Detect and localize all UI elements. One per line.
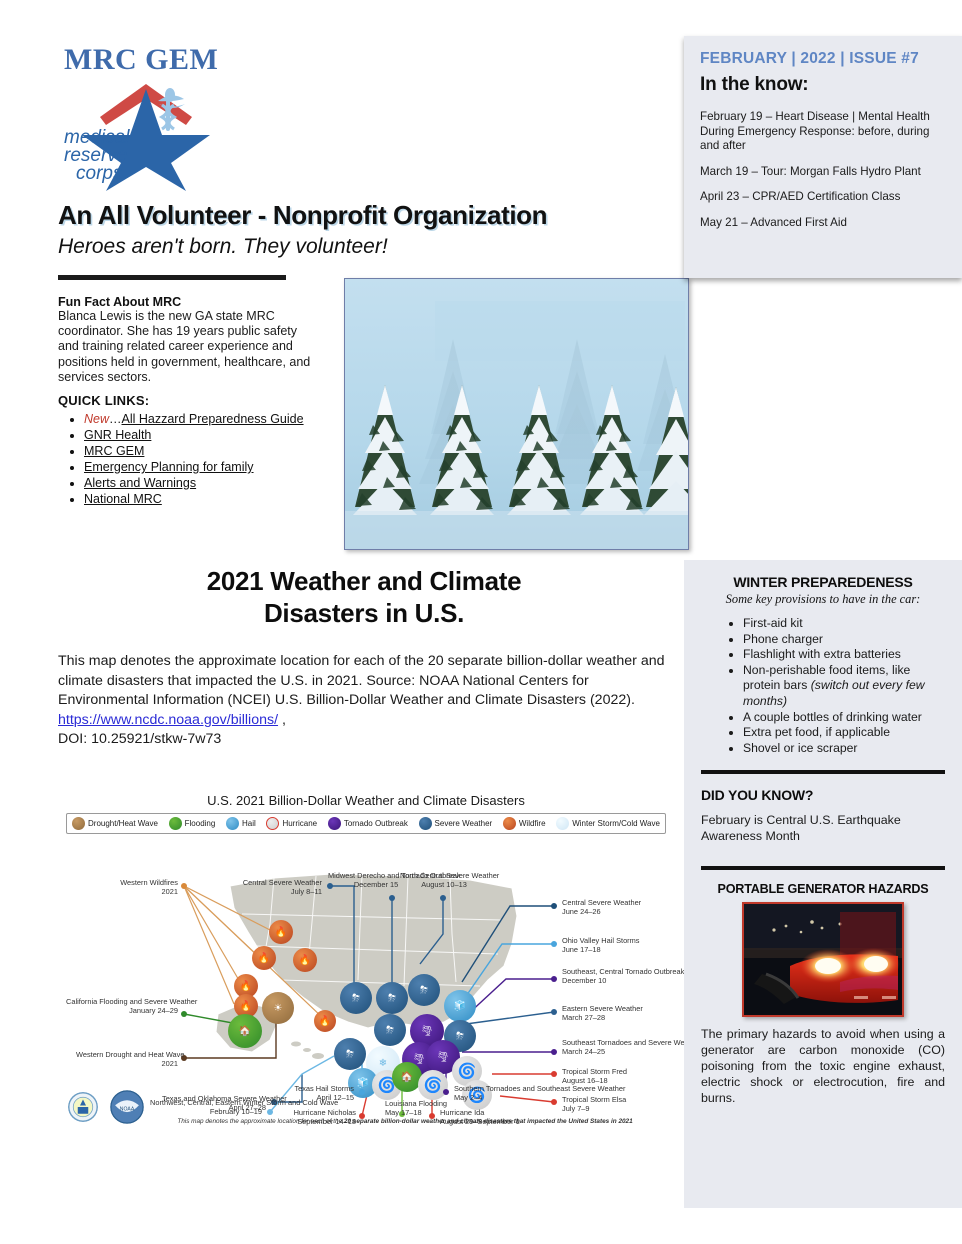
- map-label-name: Central Severe Weather: [222, 878, 322, 887]
- winter-prep-section: WINTER PREPAREDENESS Some key provisions…: [684, 560, 962, 756]
- noaa-logo-icon: NOAA: [110, 1090, 144, 1124]
- legend-item: Tornado Outbreak: [328, 817, 408, 830]
- map-footnote-bold: 20 separate billion-dollar weather and c…: [344, 1118, 633, 1125]
- sidebar-divider-2: [701, 866, 945, 870]
- legend-item: Winter Storm/Cold Wave: [556, 817, 660, 830]
- noaa-billions-link[interactable]: https://www.ncdc.noaa.gov/billions/: [58, 712, 278, 728]
- list-item: Extra pet food, if applicable: [743, 725, 945, 741]
- map-label-date: May 2–4: [454, 1093, 554, 1102]
- event-item: March 19 – Tour: Morgan Falls Hydro Plan…: [700, 165, 946, 180]
- event-dot: [181, 883, 187, 889]
- event-item: May 21 – Advanced First Aid: [700, 216, 946, 231]
- list-item: A couple bottles of drinking water: [743, 710, 945, 726]
- map-label-name: Southeast Tornadoes and Severe Weather: [562, 1038, 666, 1047]
- map-label-date: July 8–11: [222, 887, 322, 896]
- map-label-name: Southeast, Central Tornado Outbreak: [562, 967, 666, 976]
- map-label-date: February 10–19: [150, 1107, 262, 1116]
- sidebar-divider-1: [701, 770, 945, 774]
- map-footnote: This map denotes the approximate locatio…: [150, 1118, 660, 1125]
- sidebar-lower-panel: WINTER PREPAREDENESS Some key provisions…: [684, 560, 962, 1208]
- quick-link-label[interactable]: GNR Health: [84, 428, 151, 442]
- map-label: Southern Tornadoes and Southeast Severe …: [454, 1084, 554, 1102]
- quick-link-label[interactable]: Alerts and Warnings: [84, 476, 196, 490]
- wildfire-map-icon: 🔥: [293, 948, 317, 972]
- winter-prep-list: First-aid kit Phone charger Flashlight w…: [701, 616, 945, 756]
- article-title: 2021 Weather and Climate Disasters in U.…: [58, 565, 670, 629]
- legend-label: Flooding: [185, 819, 216, 828]
- masthead: MRC GEM medical reserve c: [58, 45, 658, 280]
- generator-heading: PORTABLE GENERATOR HAZARDS: [701, 882, 945, 896]
- legend-item: Flooding: [169, 817, 216, 830]
- map-label: Ohio Valley Hail Storms June 17–18: [562, 936, 666, 954]
- list-item[interactable]: National MRC: [84, 491, 316, 507]
- map-label-date: 2021: [76, 887, 178, 896]
- legend-label: Hurricane: [282, 819, 317, 828]
- map-label: Southeast Tornadoes and Severe Weather M…: [562, 1038, 666, 1056]
- map-label: Eastern Severe Weather March 27–28: [562, 1004, 666, 1022]
- article-title-line2: Disasters in U.S.: [58, 597, 670, 629]
- list-item: Flashlight with extra batteries: [743, 647, 945, 663]
- map-canvas: 🔥 🔥 🔥 🔥 🔥 🔥 ☀ 🏠 ⛈ ⛈ ⛈ 🧊 ⛈ 🌪 ⛈ ⛈ ❄ 🌪 🌪 🧊 …: [62, 834, 670, 1130]
- map-label: Central Severe Weather July 8–11: [222, 878, 322, 896]
- did-you-know-heading: DID YOU KNOW?: [701, 787, 945, 803]
- severe-weather-map-icon: ⛈: [374, 1014, 406, 1046]
- newsletter-page: MRC GEM medical reserve c: [0, 0, 962, 1244]
- event-dot: [389, 895, 395, 901]
- winter-prep-heading: WINTER PREPAREDENESS: [701, 574, 945, 590]
- map-label: Northwest, Central, Eastern Winter Storm…: [150, 1098, 262, 1116]
- map-label-name: Texas Hail Storms: [284, 1084, 354, 1093]
- billion-dollar-disasters-map-figure: U.S. 2021 Billion-Dollar Weather and Cli…: [62, 790, 670, 1155]
- item-text: Extra pet food, if applicable: [743, 725, 890, 739]
- quick-links-list: New…All Hazzard Preparedness Guide GNR H…: [58, 411, 316, 507]
- severe-weather-map-icon: ⛈: [408, 974, 440, 1006]
- noaa-department-seal-icon: [68, 1092, 98, 1122]
- issue-line: FEBRUARY | 2022 | ISSUE #7: [684, 36, 962, 68]
- map-label: California Flooding and Severe Weather J…: [66, 997, 178, 1015]
- article-paragraph-tail: ,: [278, 712, 286, 728]
- map-label: Tropical Storm Elsa July 7–9: [562, 1095, 666, 1113]
- article-body: This map denotes the approximate locatio…: [58, 652, 670, 750]
- did-you-know-section: DID YOU KNOW? February is Central U.S. E…: [684, 787, 962, 844]
- list-item[interactable]: New…All Hazzard Preparedness Guide: [84, 411, 316, 427]
- item-text: First-aid kit: [743, 616, 803, 630]
- legend-item: Hurricane: [266, 817, 317, 830]
- map-label-name: California Flooding and Severe Weather: [66, 997, 178, 1006]
- fun-fact-heading: Fun Fact About MRC: [58, 295, 316, 309]
- winter-prep-subheading: Some key provisions to have in the car:: [701, 592, 945, 607]
- event-item: February 19 – Heart Disease | Mental Hea…: [700, 110, 946, 154]
- fun-fact-section: Fun Fact About MRC Blanca Lewis is the n…: [58, 295, 316, 507]
- severe-weather-map-icon: ⛈: [334, 1038, 366, 1070]
- article-title-line1: 2021 Weather and Climate: [58, 565, 670, 597]
- masthead-divider: [58, 275, 286, 280]
- svg-text:NOAA: NOAA: [120, 1106, 135, 1112]
- event-dot: [443, 1089, 449, 1095]
- legend-label: Tornado Outbreak: [344, 819, 408, 828]
- hurricane-icon: [266, 817, 279, 830]
- snowy-trees-illustration-icon: [345, 279, 689, 550]
- article-paragraph: This map denotes the approximate locatio…: [58, 653, 665, 708]
- item-text: Shovel or ice scraper: [743, 741, 857, 755]
- in-the-know-heading: In the know:: [684, 68, 962, 96]
- emergency-lights-photo-icon: [744, 904, 902, 1015]
- item-text: Phone charger: [743, 632, 823, 646]
- map-label-date: May 17–18: [385, 1108, 435, 1117]
- map-label-name: Western Wildfires: [76, 878, 178, 887]
- legend-label: Severe Weather: [435, 819, 493, 828]
- wildfire-map-icon: 🔥: [252, 946, 276, 970]
- severe-weather-map-icon: ⛈: [340, 982, 372, 1014]
- new-tag: New: [84, 412, 109, 426]
- map-label-date: 2021: [76, 1059, 178, 1068]
- map-legend: Drought/Heat Wave Flooding Hail Hurrican…: [66, 813, 666, 834]
- legend-item: Wildfire: [503, 817, 546, 830]
- flooding-icon: [169, 817, 182, 830]
- map-label-date: March 24–25: [562, 1047, 666, 1056]
- list-item[interactable]: Emergency Planning for family: [84, 459, 316, 475]
- generator-hazards-section: PORTABLE GENERATOR HAZARDS: [684, 882, 962, 1106]
- severe-weather-map-icon: ⛈: [376, 982, 408, 1014]
- item-text: A couple bottles of drinking water: [743, 710, 922, 724]
- tagline-main: An All Volunteer - Nonprofit Organizatio…: [58, 200, 658, 231]
- map-label: Tropical Storm Fred August 16–18: [562, 1067, 666, 1085]
- event-item: April 23 – CPR/AED Certification Class: [700, 190, 946, 205]
- generator-photo: [742, 902, 904, 1017]
- map-label-date: August 10–13: [400, 880, 488, 889]
- quick-link-label[interactable]: National MRC: [84, 492, 162, 506]
- fun-fact-body: Blanca Lewis is the new GA state MRC coo…: [58, 309, 316, 385]
- map-label-name: Western Drought and Heat Wave: [76, 1050, 178, 1059]
- flooding-map-icon: 🏠: [228, 1014, 262, 1048]
- tagline-sub: Heroes aren't born. They volunteer!: [58, 235, 658, 259]
- ellipsis: …: [109, 412, 122, 426]
- list-item: Shovel or ice scraper: [743, 741, 945, 757]
- map-label-date: July 7–9: [562, 1104, 666, 1113]
- medical-reserve-corps-logo-icon: medical reserve corps: [58, 79, 228, 194]
- quick-links-heading: QUICK LINKS:: [58, 393, 316, 408]
- quick-link-label[interactable]: Emergency Planning for family: [84, 460, 254, 474]
- events-list: February 19 – Heart Disease | Mental Hea…: [684, 96, 962, 230]
- quick-link-label[interactable]: MRC GEM: [84, 444, 144, 458]
- event-dot: [440, 895, 446, 901]
- map-label-name: Louisiana Flooding: [385, 1099, 435, 1108]
- wildfire-icon: [503, 817, 516, 830]
- map-label-date: January 24–29: [66, 1006, 178, 1015]
- legend-item: Severe Weather: [419, 817, 493, 830]
- event-dot: [551, 976, 557, 982]
- list-item[interactable]: GNR Health: [84, 427, 316, 443]
- event-dot: [551, 1071, 557, 1077]
- map-label: Central Severe Weather June 24–26: [562, 898, 666, 916]
- legend-label: Winter Storm/Cold Wave: [572, 819, 660, 828]
- map-title: U.S. 2021 Billion-Dollar Weather and Cli…: [62, 790, 670, 808]
- map-label-name: Tropical Storm Fred: [562, 1067, 666, 1076]
- severe-weather-icon: [419, 817, 432, 830]
- map-label-name: Hurricane Ida: [440, 1108, 552, 1117]
- drought-map-icon: ☀: [262, 992, 294, 1024]
- event-dot: [551, 941, 557, 947]
- map-label: North Central Severe Weather August 10–1…: [400, 871, 488, 889]
- map-label-name: Tropical Storm Elsa: [562, 1095, 666, 1104]
- event-dot: [267, 1109, 273, 1115]
- mrc-logo: medical reserve corps: [58, 79, 228, 194]
- drought-heat-wave-icon: [72, 817, 85, 830]
- event-dot: [551, 903, 557, 909]
- map-label-name: Hurricane Nicholas: [274, 1108, 356, 1117]
- event-dot: [551, 1009, 557, 1015]
- map-label-name: Southern Tornadoes and Southeast Severe …: [454, 1084, 554, 1093]
- map-label-name: Ohio Valley Hail Storms: [562, 936, 666, 945]
- map-label: Southeast, Central Tornado Outbreak Dece…: [562, 967, 666, 985]
- map-label-name: Northwest, Central, Eastern Winter Storm…: [150, 1098, 262, 1107]
- sidebar-top-panel: FEBRUARY | 2022 | ISSUE #7 In the know: …: [684, 36, 962, 278]
- winter-banner-image: Winter is here!: [344, 278, 689, 550]
- tornado-outbreak-icon: [328, 817, 341, 830]
- logo-line-3: corps: [76, 163, 123, 184]
- map-footnote-pre: This map denotes the approximate locatio…: [177, 1118, 344, 1125]
- legend-label: Drought/Heat Wave: [88, 819, 158, 828]
- quick-link-label[interactable]: All Hazzard Preparedness Guide: [122, 412, 304, 426]
- map-label-date: December 10: [562, 976, 666, 985]
- legend-item: Hail: [226, 817, 256, 830]
- map-label-date: June 17–18: [562, 945, 666, 954]
- hail-map-icon: 🧊: [444, 990, 476, 1022]
- event-dot: [551, 1049, 557, 1055]
- winter-storm-cold-wave-icon: [556, 817, 569, 830]
- map-label: Western Drought and Heat Wave 2021: [76, 1050, 178, 1068]
- hail-icon: [226, 817, 239, 830]
- item-text: Flashlight with extra batteries: [743, 647, 901, 661]
- generator-body: The primary hazards to avoid when using …: [701, 1026, 945, 1106]
- list-item[interactable]: Alerts and Warnings: [84, 475, 316, 491]
- map-label-date: June 24–26: [562, 907, 666, 916]
- map-label: Louisiana Flooding May 17–18: [385, 1099, 435, 1117]
- wildfire-map-icon: 🔥: [269, 920, 293, 944]
- map-label-name: Central Severe Weather: [562, 898, 666, 907]
- legend-item: Drought/Heat Wave: [72, 817, 158, 830]
- map-label: Western Wildfires 2021: [76, 878, 178, 896]
- legend-label: Wildfire: [519, 819, 546, 828]
- legend-label: Hail: [242, 819, 256, 828]
- list-item: Non-perishable food items, like protein …: [743, 663, 945, 710]
- did-you-know-body: February is Central U.S. Earthquake Awar…: [701, 812, 945, 844]
- event-dot: [181, 1011, 187, 1017]
- event-dot: [359, 1089, 365, 1095]
- article-doi: DOI: 10.25921/stkw-7w73: [58, 731, 221, 747]
- wildfire-map-icon: 🔥: [314, 1010, 336, 1032]
- map-label-name: Eastern Severe Weather: [562, 1004, 666, 1013]
- map-label-date: March 27–28: [562, 1013, 666, 1022]
- list-item: First-aid kit: [743, 616, 945, 632]
- mrc-gem-wordmark: MRC GEM: [64, 45, 658, 75]
- map-label-name: North Central Severe Weather: [400, 871, 488, 880]
- list-item: Phone charger: [743, 632, 945, 648]
- list-item[interactable]: MRC GEM: [84, 443, 316, 459]
- hurricane-map-icon: 🌀: [418, 1070, 448, 1100]
